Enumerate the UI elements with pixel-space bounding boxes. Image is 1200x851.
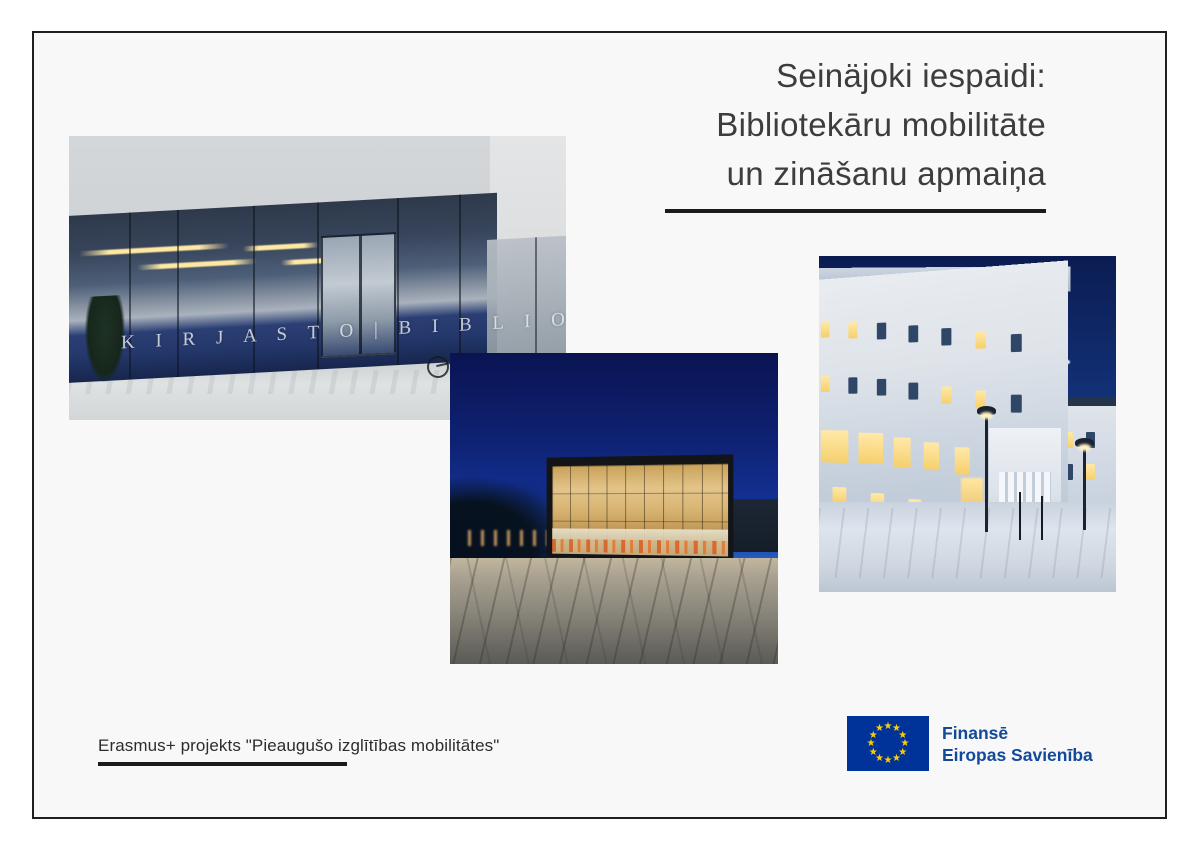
footer: Erasmus+ projekts "Pieaugušo izglītības … <box>98 736 499 766</box>
interior-ground-floor <box>552 528 728 556</box>
snow-field-foreground <box>450 558 778 664</box>
lit-window <box>955 447 970 475</box>
library-building <box>547 454 734 560</box>
title-line-1: Seinäjoki iespaidi: <box>626 51 1046 100</box>
lit-window <box>894 437 911 467</box>
lit-window <box>821 430 849 463</box>
title-line-2: Bibliotekāru mobilitāte <box>626 100 1046 149</box>
lit-window <box>941 386 951 403</box>
lit-window <box>821 321 830 338</box>
reflected-ceiling-lamp <box>79 243 229 256</box>
footer-underline-rule <box>98 762 347 766</box>
lit-window <box>924 442 939 470</box>
photo-library-night <box>450 353 778 664</box>
window <box>1011 334 1022 352</box>
title-line-3: un zināšanu apmaiņa <box>626 149 1046 198</box>
eu-funding-logo: ★★★★★★★★★★★★ Finansē Eiropas Savienība <box>847 716 1093 771</box>
window <box>941 328 951 346</box>
lit-window <box>858 433 883 465</box>
presentation-slide: Seinäjoki iespaidi: Bibliotekāru mobilit… <box>0 0 1200 851</box>
eu-star-icon: ★ <box>884 756 893 765</box>
window <box>877 322 886 339</box>
footer-project-text: Erasmus+ projekts "Pieaugušo izglītības … <box>98 736 499 756</box>
window <box>1011 395 1022 413</box>
reflected-ceiling-lamp <box>137 259 257 270</box>
page-title: Seinäjoki iespaidi: Bibliotekāru mobilit… <box>626 51 1046 213</box>
reflected-tree <box>85 295 125 383</box>
lit-window <box>848 322 857 339</box>
eu-star-icon: ★ <box>892 754 901 763</box>
lit-window <box>821 376 830 392</box>
eu-flag-icon: ★★★★★★★★★★★★ <box>847 716 929 771</box>
bare-tree <box>1041 496 1043 540</box>
lit-window <box>1086 464 1095 480</box>
eu-caption-line-1: Finansē <box>942 722 1093 744</box>
lit-window <box>975 331 985 349</box>
window <box>908 325 918 342</box>
photo-white-building <box>819 256 1116 592</box>
eu-star-icon: ★ <box>875 724 884 733</box>
snow-covered-courtyard <box>819 502 1116 592</box>
eu-caption-line-2: Eiropas Savienība <box>942 744 1093 766</box>
bare-tree <box>1019 492 1021 540</box>
street-lamp <box>985 414 988 532</box>
street-lamp <box>1083 446 1086 530</box>
eu-funding-caption: Finansē Eiropas Savienība <box>942 722 1093 766</box>
slide-frame: Seinäjoki iespaidi: Bibliotekāru mobilit… <box>32 31 1167 819</box>
title-underline-rule <box>665 209 1046 213</box>
window <box>877 379 886 396</box>
window <box>908 383 918 400</box>
window <box>848 377 857 393</box>
building-side-wing <box>726 499 778 552</box>
